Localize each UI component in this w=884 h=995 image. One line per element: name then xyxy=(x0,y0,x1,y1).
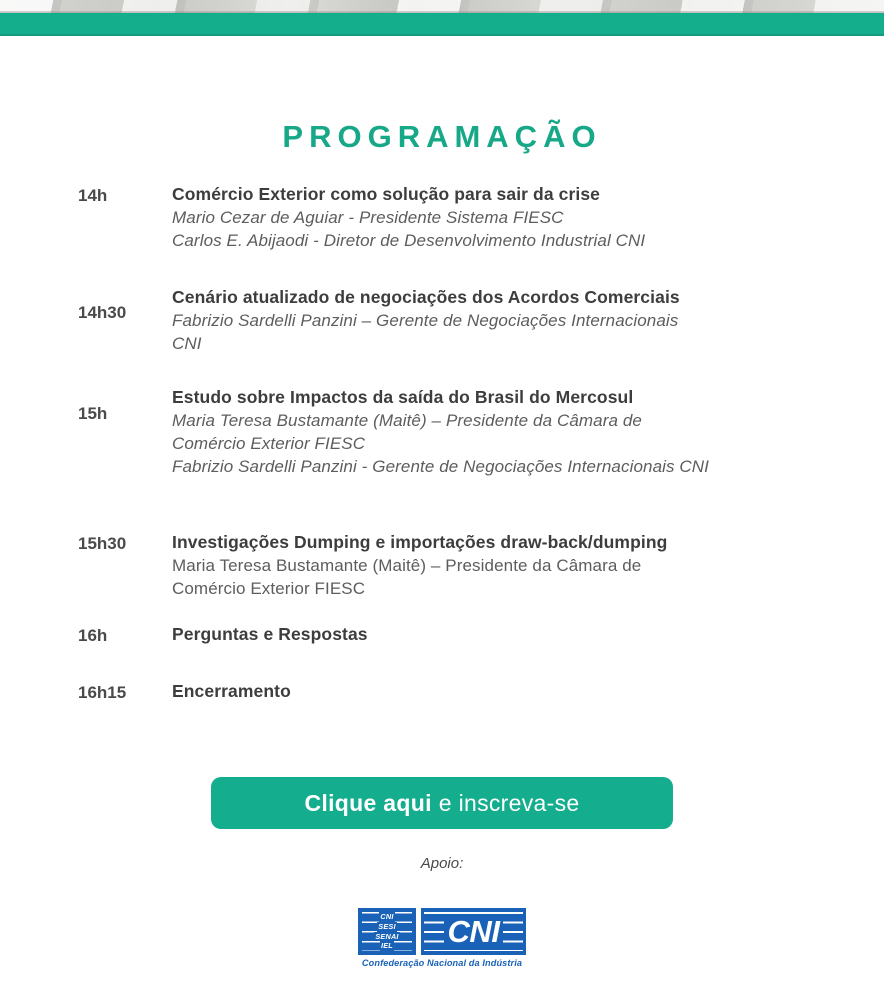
cta-container: Clique aqui e inscreva-se xyxy=(0,777,884,829)
schedule-row-time: 15h xyxy=(78,386,172,425)
schedule-row-speaker: Maria Teresa Bustamante (Maitê) – Presid… xyxy=(172,554,844,577)
schedule-row-time: 14h30 xyxy=(78,286,172,324)
schedule-row-speaker: CNI xyxy=(172,332,844,355)
schedule-row-talk-title: Cenário atualizado de negociações dos Ac… xyxy=(172,286,844,309)
schedule-row-talk-title: Perguntas e Respostas xyxy=(172,623,844,646)
schedule-row-time: 16h xyxy=(78,623,172,647)
schedule-row: 14h30Cenário atualizado de negociações d… xyxy=(0,286,884,355)
cni-tagline: Confederação Nacional da Indústria xyxy=(358,958,526,968)
cni-logo-marks: CNI SESI SENAI IEL CNI xyxy=(358,908,526,955)
schedule-row: 16h15Encerramento xyxy=(0,680,884,704)
schedule-row-body: Investigações Dumping e importações draw… xyxy=(172,531,844,600)
schedule-row-body: Cenário atualizado de negociações dos Ac… xyxy=(172,286,844,355)
schedule-row-talk-title: Estudo sobre Impactos da saída do Brasil… xyxy=(172,386,844,409)
stone-texture-strip xyxy=(0,0,884,14)
register-button-strong-label: Clique aqui xyxy=(305,790,432,817)
cni-logo: CNI SESI SENAI IEL CNI Confederação Naci… xyxy=(358,908,526,968)
cni-wordmark: CNI xyxy=(421,908,526,955)
cni-systems-line-3: IEL xyxy=(380,941,394,951)
schedule-row: 15hEstudo sobre Impactos da saída do Bra… xyxy=(0,386,884,478)
schedule-row-speaker: Comércio Exterior FIESC xyxy=(172,577,844,600)
schedule-list: 14hComércio Exterior como solução para s… xyxy=(0,183,884,704)
schedule-row-speaker: Fabrizio Sardelli Panzini – Gerente de N… xyxy=(172,309,844,332)
schedule-row: 16hPerguntas e Respostas xyxy=(0,623,884,647)
schedule-row-talk-title: Encerramento xyxy=(172,680,844,703)
cni-wordmark-text: CNI xyxy=(444,915,504,948)
header-teal-band xyxy=(0,13,884,36)
schedule-row-body: Encerramento xyxy=(172,680,844,703)
schedule-row-body: Comércio Exterior como solução para sair… xyxy=(172,183,844,252)
schedule-row-speaker: Mario Cezar de Aguiar - Presidente Siste… xyxy=(172,206,844,229)
register-button-rest-label: e inscreva-se xyxy=(439,790,580,817)
schedule-row-time: 15h30 xyxy=(78,531,172,555)
schedule-row-body: Perguntas e Respostas xyxy=(172,623,844,646)
cni-systems-line-0: CNI xyxy=(379,912,394,922)
schedule-row-time: 14h xyxy=(78,183,172,207)
schedule-row-speaker: Carlos E. Abijaodi - Diretor de Desenvol… xyxy=(172,229,844,252)
schedule-row-speaker: Fabrizio Sardelli Panzini - Gerente de N… xyxy=(172,455,844,478)
register-button[interactable]: Clique aqui e inscreva-se xyxy=(211,777,673,829)
page-title: PROGRAMAÇÃO xyxy=(0,119,884,155)
cni-systems-line-2: SENAI xyxy=(374,932,399,942)
footer-logo-container: CNI SESI SENAI IEL CNI Confederação Naci… xyxy=(0,908,884,968)
schedule-row-time: 16h15 xyxy=(78,680,172,704)
schedule-row-speaker: Maria Teresa Bustamante (Maitê) – Presid… xyxy=(172,409,844,432)
schedule-row-body: Estudo sobre Impactos da saída do Brasil… xyxy=(172,386,844,478)
schedule-row: 15h30Investigações Dumping e importações… xyxy=(0,531,884,600)
cni-systems-line-1: SESI xyxy=(377,922,396,932)
schedule-row: 14hComércio Exterior como solução para s… xyxy=(0,183,884,252)
cni-systems-mark: CNI SESI SENAI IEL xyxy=(358,908,416,955)
apoio-label: Apoio: xyxy=(0,855,884,872)
schedule-row-speaker: Comércio Exterior FIESC xyxy=(172,432,844,455)
schedule-row-talk-title: Investigações Dumping e importações draw… xyxy=(172,531,844,554)
schedule-row-talk-title: Comércio Exterior como solução para sair… xyxy=(172,183,844,206)
